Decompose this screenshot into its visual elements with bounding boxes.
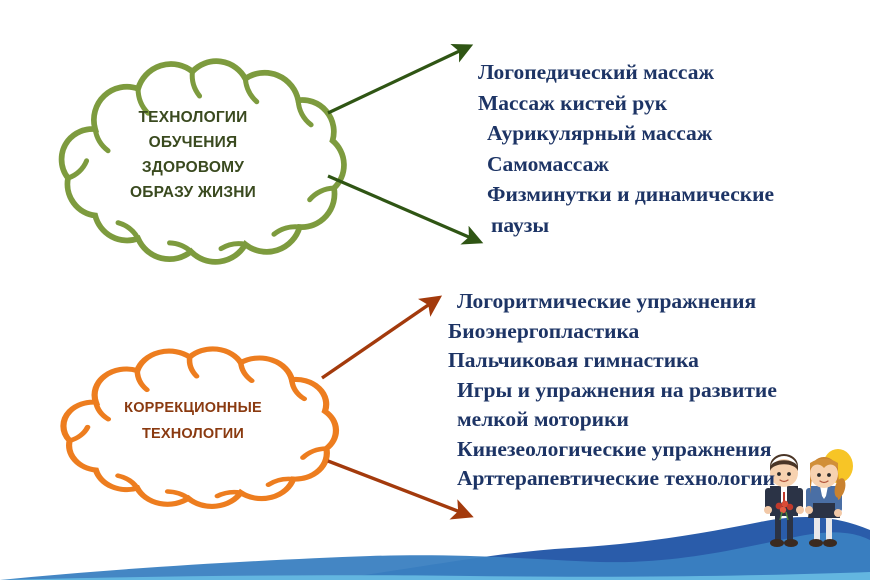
list-item: Кинезеологические упражнения: [448, 435, 777, 465]
list-item: Арттерапевтические технологии: [448, 464, 777, 494]
list-item: Аурикулярный массаж: [478, 118, 774, 149]
list-item: Логоритмические упражнения: [448, 287, 777, 317]
bottom-wave-band: [0, 517, 870, 580]
girl-figure: [805, 457, 847, 547]
health-technologies-list: Логопедический массаж Массаж кистей рук …: [478, 57, 774, 240]
wave-teal: [480, 526, 870, 580]
wave-light-blue: [0, 572, 870, 580]
wave-green: [560, 533, 870, 580]
list-item: Игры и упражнения на развитие: [448, 376, 777, 406]
arrow-correction-lower: [328, 461, 468, 515]
wave-dark-blue: [330, 517, 870, 580]
arrow-health-upper: [328, 47, 468, 113]
arrow-correction-upper: [322, 299, 437, 378]
list-item: мелкой моторики: [448, 405, 777, 435]
wave-mid-blue: [0, 532, 870, 580]
arrow-health-lower: [328, 176, 478, 241]
correction-technologies-list: Логоритмические упражнения Биоэнергоплас…: [448, 287, 777, 494]
list-item: Биоэнергопластика: [448, 317, 777, 347]
list-item: Массаж кистей рук: [478, 88, 774, 119]
list-item: Пальчиковая гимнастика: [448, 346, 777, 376]
list-item: Логопедический массаж: [478, 57, 774, 88]
slide-canvas: ТЕХНОЛОГИИ ОБУЧЕНИЯ ЗДОРОВОМУ ОБРАЗУ ЖИЗ…: [0, 0, 870, 580]
orange-cloud-label: КОРРЕКЦИОННЫЕ ТЕХНОЛОГИИ: [88, 395, 298, 447]
list-item: Самомассаж: [478, 149, 774, 180]
balloon-icon: [823, 449, 853, 516]
list-item: Физминутки и динамические: [478, 179, 774, 210]
list-item: паузы: [478, 210, 774, 241]
schoolchildren-illustration: [764, 449, 853, 547]
green-cloud-label: ТЕХНОЛОГИИ ОБУЧЕНИЯ ЗДОРОВОМУ ОБРАЗУ ЖИЗ…: [78, 105, 308, 205]
flower-bouquet-icon: [776, 501, 794, 520]
